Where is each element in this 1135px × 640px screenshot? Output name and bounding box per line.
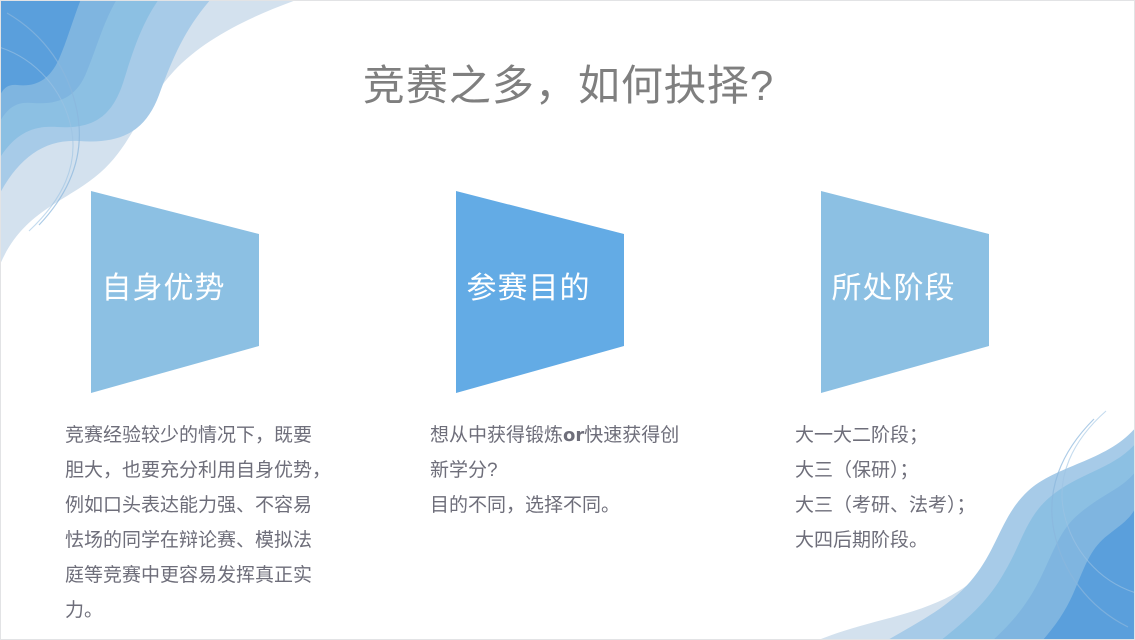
column-competition-purpose: 参赛目的 想从中获得锻炼or快速获得创 新学分? 目的不同，选择不同。: [426, 186, 726, 401]
body-line: 目的不同，选择不同。: [430, 488, 715, 523]
body-line: 力。: [65, 593, 350, 628]
body-text-self-advantage: 竞赛经验较少的情况下，既要 胆大，也要充分利用自身优势， 例如口头表达能力强、不…: [65, 418, 350, 628]
shape-label-1: 参赛目的: [426, 272, 631, 307]
slide-canvas: 竞赛之多，如何抉择? 自身优势 竞赛经验较少的情况下，既要 胆大，也要充分利用自…: [0, 0, 1135, 640]
body-line: 庭等竞赛中更容易发挥真正实: [65, 558, 350, 593]
column-current-stage: 所处阶段 大一大二阶段； 大三（保研）； 大三（考研、法考）； 大四后期阶段。: [791, 186, 1101, 401]
body-line: 怯场的同学在辩论赛、模拟法: [65, 523, 350, 558]
shape-label-2: 所处阶段: [791, 272, 996, 307]
body-line: 例如口头表达能力强、不容易: [65, 488, 350, 523]
body-line: 大三（保研）；: [795, 453, 1080, 488]
body-line: 胆大，也要充分利用自身优势，: [65, 453, 350, 488]
body-text-competition-purpose: 想从中获得锻炼or快速获得创 新学分? 目的不同，选择不同。: [430, 418, 715, 523]
column-self-advantage: 自身优势 竞赛经验较少的情况下，既要 胆大，也要充分利用自身优势， 例如口头表达…: [61, 186, 361, 401]
shape-competition-purpose[interactable]: 参赛目的: [426, 186, 666, 401]
body-line: 大四后期阶段。: [795, 523, 1080, 558]
shape-label-0: 自身优势: [61, 272, 266, 307]
body-line: 大三（考研、法考）；: [795, 488, 1080, 523]
body-line: 新学分?: [430, 453, 715, 488]
body-line: 大一大二阶段；: [795, 418, 1080, 453]
body-line: 竞赛经验较少的情况下，既要: [65, 418, 350, 453]
body-line: 想从中获得锻炼or快速获得创: [430, 418, 715, 453]
body-text-current-stage: 大一大二阶段； 大三（保研）； 大三（考研、法考）； 大四后期阶段。: [795, 418, 1080, 558]
page-title: 竞赛之多，如何抉择?: [1, 61, 1135, 111]
shape-self-advantage[interactable]: 自身优势: [61, 186, 301, 401]
shape-current-stage[interactable]: 所处阶段: [791, 186, 1031, 401]
